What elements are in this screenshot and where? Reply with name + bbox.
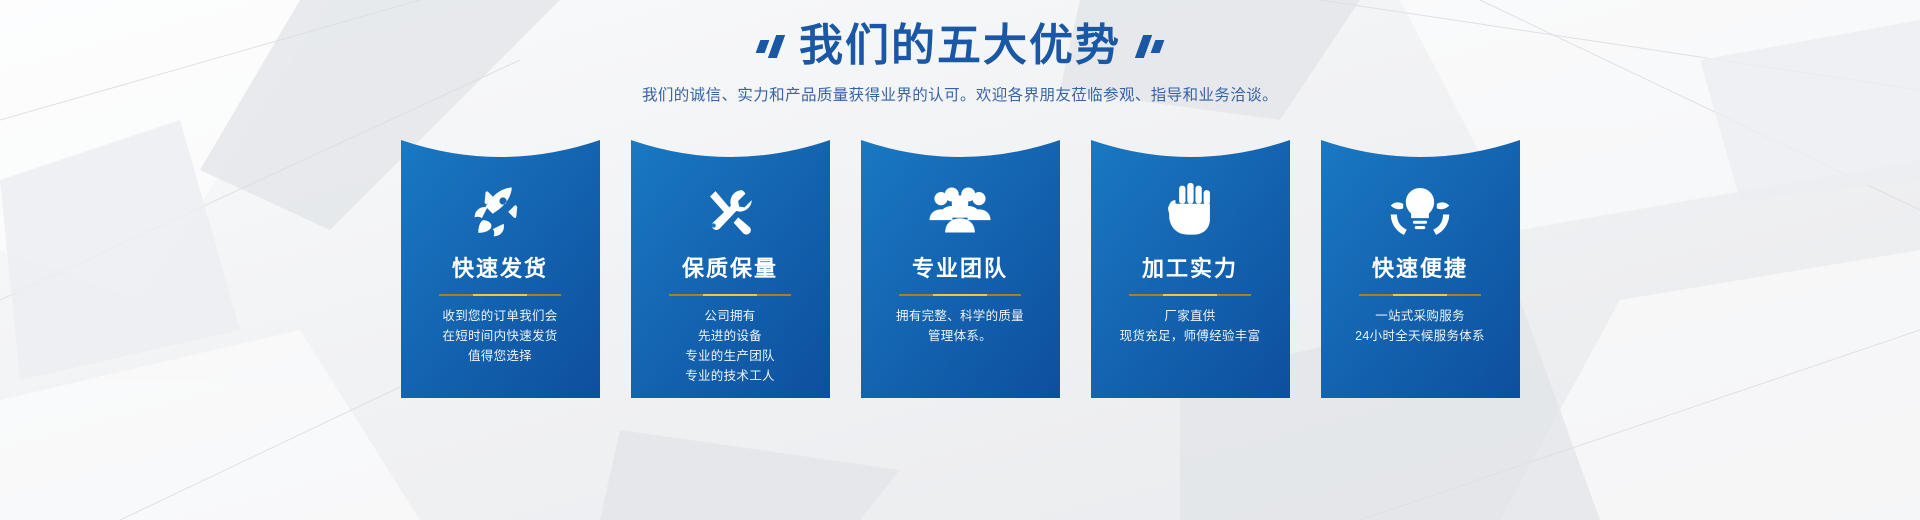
team-people-icon bbox=[861, 180, 1060, 242]
title-decoration-right-icon bbox=[1139, 35, 1162, 58]
card-desc-line: 厂家直供 bbox=[1120, 306, 1261, 326]
title-decoration-left-icon bbox=[758, 35, 781, 58]
card-desc-line: 先进的设备 bbox=[685, 326, 775, 346]
page-title: 我们的五大优势 bbox=[799, 20, 1121, 72]
card-desc-line: 24小时全天候服务体系 bbox=[1355, 326, 1485, 346]
card-description: 一站式采购服务 24小时全天候服务体系 bbox=[1355, 306, 1485, 346]
page-subtitle: 我们的诚信、实力和产品质量获得业界的认可。欢迎各界朋友莅临参观、指导和业务洽谈。 bbox=[0, 83, 1920, 105]
card-description: 收到您的订单我们会 在短时间内快速发货 值得您选择 bbox=[442, 306, 557, 366]
card-desc-line: 管理体系。 bbox=[896, 326, 1024, 346]
card-title: 快速便捷 bbox=[1372, 256, 1468, 282]
card-title: 加工实力 bbox=[1142, 256, 1238, 282]
advantage-card[interactable]: 加工实力 厂家直供 现货充足，师傅经验丰富 bbox=[1091, 140, 1290, 398]
card-desc-line: 值得您选择 bbox=[442, 346, 557, 366]
card-desc-line: 现货充足，师傅经验丰富 bbox=[1120, 326, 1261, 346]
card-divider bbox=[1359, 294, 1481, 296]
card-desc-line: 公司拥有 bbox=[685, 306, 775, 326]
card-desc-line: 一站式采购服务 bbox=[1355, 306, 1485, 326]
advantage-card[interactable]: 专业团队 拥有完整、科学的质量 管理体系。 bbox=[861, 140, 1060, 398]
card-title: 快速发货 bbox=[452, 256, 548, 282]
card-divider bbox=[1129, 294, 1251, 296]
card-divider bbox=[439, 294, 561, 296]
card-desc-line: 收到您的订单我们会 bbox=[442, 306, 557, 326]
card-description: 厂家直供 现货充足，师傅经验丰富 bbox=[1120, 306, 1261, 346]
card-desc-line: 拥有完整、科学的质量 bbox=[896, 306, 1024, 326]
title-row: 我们的五大优势 bbox=[0, 18, 1920, 74]
card-desc-line: 在短时间内快速发货 bbox=[442, 326, 557, 346]
advantage-card[interactable]: 快速发货 收到您的订单我们会 在短时间内快速发货 值得您选择 bbox=[401, 140, 600, 398]
wrench-screwdriver-icon bbox=[631, 180, 830, 242]
card-title: 专业团队 bbox=[912, 256, 1008, 282]
card-desc-line: 专业的生产团队 bbox=[685, 346, 775, 366]
fist-icon bbox=[1091, 180, 1290, 242]
card-divider bbox=[669, 294, 791, 296]
rocket-icon bbox=[401, 180, 600, 242]
advantage-card[interactable]: 保质保量 公司拥有 先进的设备 专业的生产团队 专业的技术工人 bbox=[631, 140, 830, 398]
advantage-card[interactable]: 快速便捷 一站式采购服务 24小时全天候服务体系 bbox=[1321, 140, 1520, 398]
advantage-card-list: 快速发货 收到您的订单我们会 在短时间内快速发货 值得您选择 bbox=[0, 140, 1920, 398]
card-divider bbox=[899, 294, 1021, 296]
card-title: 保质保量 bbox=[682, 256, 778, 282]
lightbulb-hands-icon bbox=[1321, 180, 1520, 242]
card-description: 公司拥有 先进的设备 专业的生产团队 专业的技术工人 bbox=[685, 306, 775, 386]
card-desc-line: 专业的技术工人 bbox=[685, 366, 775, 386]
section-header: 我们的五大优势 我们的诚信、实力和产品质量获得业界的认可。欢迎各界朋友莅临参观、… bbox=[0, 18, 1920, 105]
card-description: 拥有完整、科学的质量 管理体系。 bbox=[896, 306, 1024, 346]
